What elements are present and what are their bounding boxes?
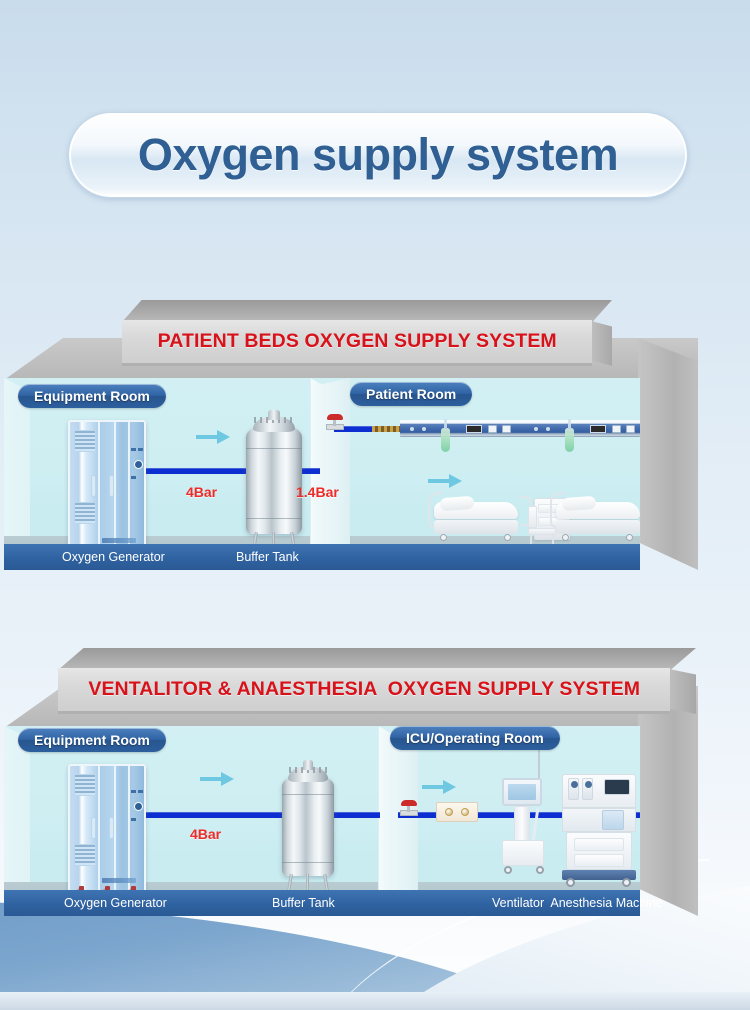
pressure-label-4bar: 4Bar [190, 826, 221, 842]
room-label-icu-operating-room: ICU/Operating Room [390, 726, 560, 750]
ventilator-caster [504, 866, 512, 874]
rail-gas-outlet[interactable] [612, 425, 621, 433]
oxygen-generator [68, 420, 146, 554]
generator-control-knob[interactable] [134, 460, 143, 469]
rail-indicator [534, 427, 538, 431]
gas-terminal-box[interactable] [436, 802, 478, 822]
generator-door-handle[interactable] [110, 476, 113, 496]
section-footer-patient-beds: Oxygen Generator Buffer Tank [4, 544, 640, 570]
footer-label-oxygen-generator: Oxygen Generator [64, 896, 167, 910]
room-interior: 4Bar [4, 726, 640, 916]
pipe-generator-to-tank [144, 812, 380, 818]
section-banner-ventilator-anaesthesia: VENTALITOR & ANAESTHESIA OXYGEN SUPPLY S… [58, 648, 696, 716]
anesthesia-caster [566, 878, 575, 887]
poster-root: Oxygen supply system PATIENT BEDS OXYGEN… [0, 0, 750, 1010]
generator-door-handle[interactable] [110, 818, 113, 838]
bed-base [556, 520, 640, 534]
generator-indicator-light [131, 818, 136, 821]
anesthesia-drawer[interactable] [574, 838, 624, 851]
patient-bed [550, 486, 640, 544]
valve-handle[interactable] [327, 414, 343, 420]
room-right-wall [638, 338, 698, 570]
room-divider-wall [378, 726, 392, 916]
anesthesia-display[interactable] [604, 779, 630, 795]
tank-seam [246, 448, 302, 449]
banner-slab-top [122, 300, 612, 322]
section-banner-patient-beds: PATIENT BEDS OXYGEN SUPPLY SYSTEM [122, 300, 612, 368]
section-footer-ventilator-anaesthesia: Oxygen Generator Buffer Tank Ventilator … [4, 890, 640, 916]
bed-base [434, 520, 518, 534]
generator-door-handle[interactable] [92, 476, 95, 496]
generator-vent-grille [74, 844, 96, 866]
room-label-equipment-room: Equipment Room [18, 384, 166, 408]
footer-label-buffer-tank: Buffer Tank [236, 550, 299, 564]
generator-door-handle[interactable] [92, 818, 95, 838]
rail-gas-outlet[interactable] [488, 425, 497, 433]
generator-brand-logo [102, 538, 136, 543]
room-label-patient-room: Patient Room [350, 382, 472, 406]
tank-seam [282, 862, 334, 863]
banner-slab-top [58, 648, 696, 670]
pipe-coupling-segment [372, 426, 402, 432]
generator-panel-seam [128, 422, 130, 552]
co2-absorber-canister [602, 810, 624, 830]
banner-title-ventilator-anaesthesia: VENTALITOR & ANAESTHESIA OXYGEN SUPPLY S… [88, 678, 640, 701]
generator-vent-grille [74, 430, 96, 452]
footer-label-buffer-tank: Buffer Tank [272, 896, 335, 910]
bed-caster [440, 534, 447, 541]
pressure-label-1-4bar: 1.4Bar [296, 484, 339, 500]
background-base-strip [0, 992, 750, 1010]
generator-vent-grille [74, 502, 96, 524]
generator-indicator-light [138, 448, 143, 451]
generator-indicator-light [131, 448, 136, 451]
room-scene-ventilator-anaesthesia: 4Bar [4, 686, 698, 916]
ventilator-caster [536, 866, 544, 874]
footer-label-ventilator-anesthesia-machine: Ventilator Anesthesia Machine [492, 896, 663, 910]
generator-panel-seam [98, 422, 100, 552]
generator-panel-seam [114, 422, 116, 552]
generator-panel-seam [128, 766, 130, 892]
chair-backrest [528, 506, 537, 528]
bed-pillow [562, 496, 597, 511]
anesthesia-drawer[interactable] [574, 854, 624, 867]
oxygen-generator [68, 764, 146, 894]
room-right-wall [638, 686, 698, 916]
bed-caster [626, 534, 633, 541]
ventilator-breathing-tube [532, 808, 540, 842]
generator-indicator-light [138, 790, 143, 793]
rail-gas-outlet[interactable] [626, 425, 635, 433]
bed-caster [504, 534, 511, 541]
anesthesia-vaporizer[interactable] [582, 778, 593, 800]
pressure-label-4bar: 4Bar [186, 484, 217, 500]
rail-indicator [422, 427, 426, 431]
page-title-pill: Oxygen supply system [68, 112, 688, 198]
tank-valve-cap[interactable] [303, 760, 313, 770]
valve-handle[interactable] [401, 800, 417, 806]
flow-arrow-icon [196, 430, 230, 444]
flow-arrow-icon [428, 474, 462, 488]
tank-seam [282, 794, 334, 795]
anesthesia-vaporizer[interactable] [568, 778, 579, 800]
generator-brand-logo [102, 878, 136, 883]
ventilator [498, 778, 550, 876]
tank-shell [282, 774, 334, 876]
generator-indicator-light [131, 476, 136, 479]
ventilator-base-cabinet [502, 840, 544, 866]
rail-display [590, 425, 606, 433]
banner-slab-face: PATIENT BEDS OXYGEN SUPPLY SYSTEM [122, 320, 592, 366]
tank-seam [246, 518, 302, 519]
tank-valve-cap[interactable] [268, 410, 279, 420]
rail-indicator [546, 427, 550, 431]
room-label-equipment-room-2: Equipment Room [18, 728, 166, 752]
bed-pillow [440, 496, 475, 511]
anesthesia-machine [562, 774, 640, 890]
banner-title-patient-beds: PATIENT BEDS OXYGEN SUPPLY SYSTEM [158, 330, 557, 353]
page-title: Oxygen supply system [138, 129, 618, 181]
rail-indicator [410, 427, 414, 431]
oxygen-flowmeter[interactable] [565, 428, 574, 452]
footer-label-oxygen-generator: Oxygen Generator [62, 550, 165, 564]
buffer-tank [246, 414, 302, 556]
patient-bed [428, 486, 532, 544]
shutoff-valve[interactable] [400, 804, 420, 818]
generator-vent-grille [74, 774, 96, 796]
anesthesia-mid-module [562, 808, 636, 832]
generator-control-knob[interactable] [134, 802, 143, 811]
flow-arrow-icon [422, 780, 456, 794]
terminal-outlet-port [461, 808, 469, 816]
anesthesia-caster [622, 878, 631, 887]
anesthesia-drawer-unit [566, 832, 632, 870]
bed-caster [562, 534, 569, 541]
terminal-outlet-port [445, 808, 453, 816]
banner-slab-face: VENTALITOR & ANAESTHESIA OXYGEN SUPPLY S… [58, 668, 670, 714]
generator-indicator-light [131, 790, 136, 793]
medical-gas-rail [400, 420, 640, 437]
shutoff-valve[interactable] [326, 418, 346, 432]
rail-gas-outlet[interactable] [502, 425, 511, 433]
flow-arrow-icon [200, 772, 234, 786]
room-scene-patient-beds: 4Bar 1.4Bar [4, 338, 698, 570]
oxygen-flowmeter[interactable] [441, 428, 450, 452]
generator-panel-seam [98, 766, 100, 892]
buffer-tank [282, 764, 334, 898]
rail-display [466, 425, 482, 433]
generator-panel-seam [114, 766, 116, 892]
ventilator-screen[interactable] [502, 778, 542, 806]
room-divider-wall [310, 378, 324, 570]
